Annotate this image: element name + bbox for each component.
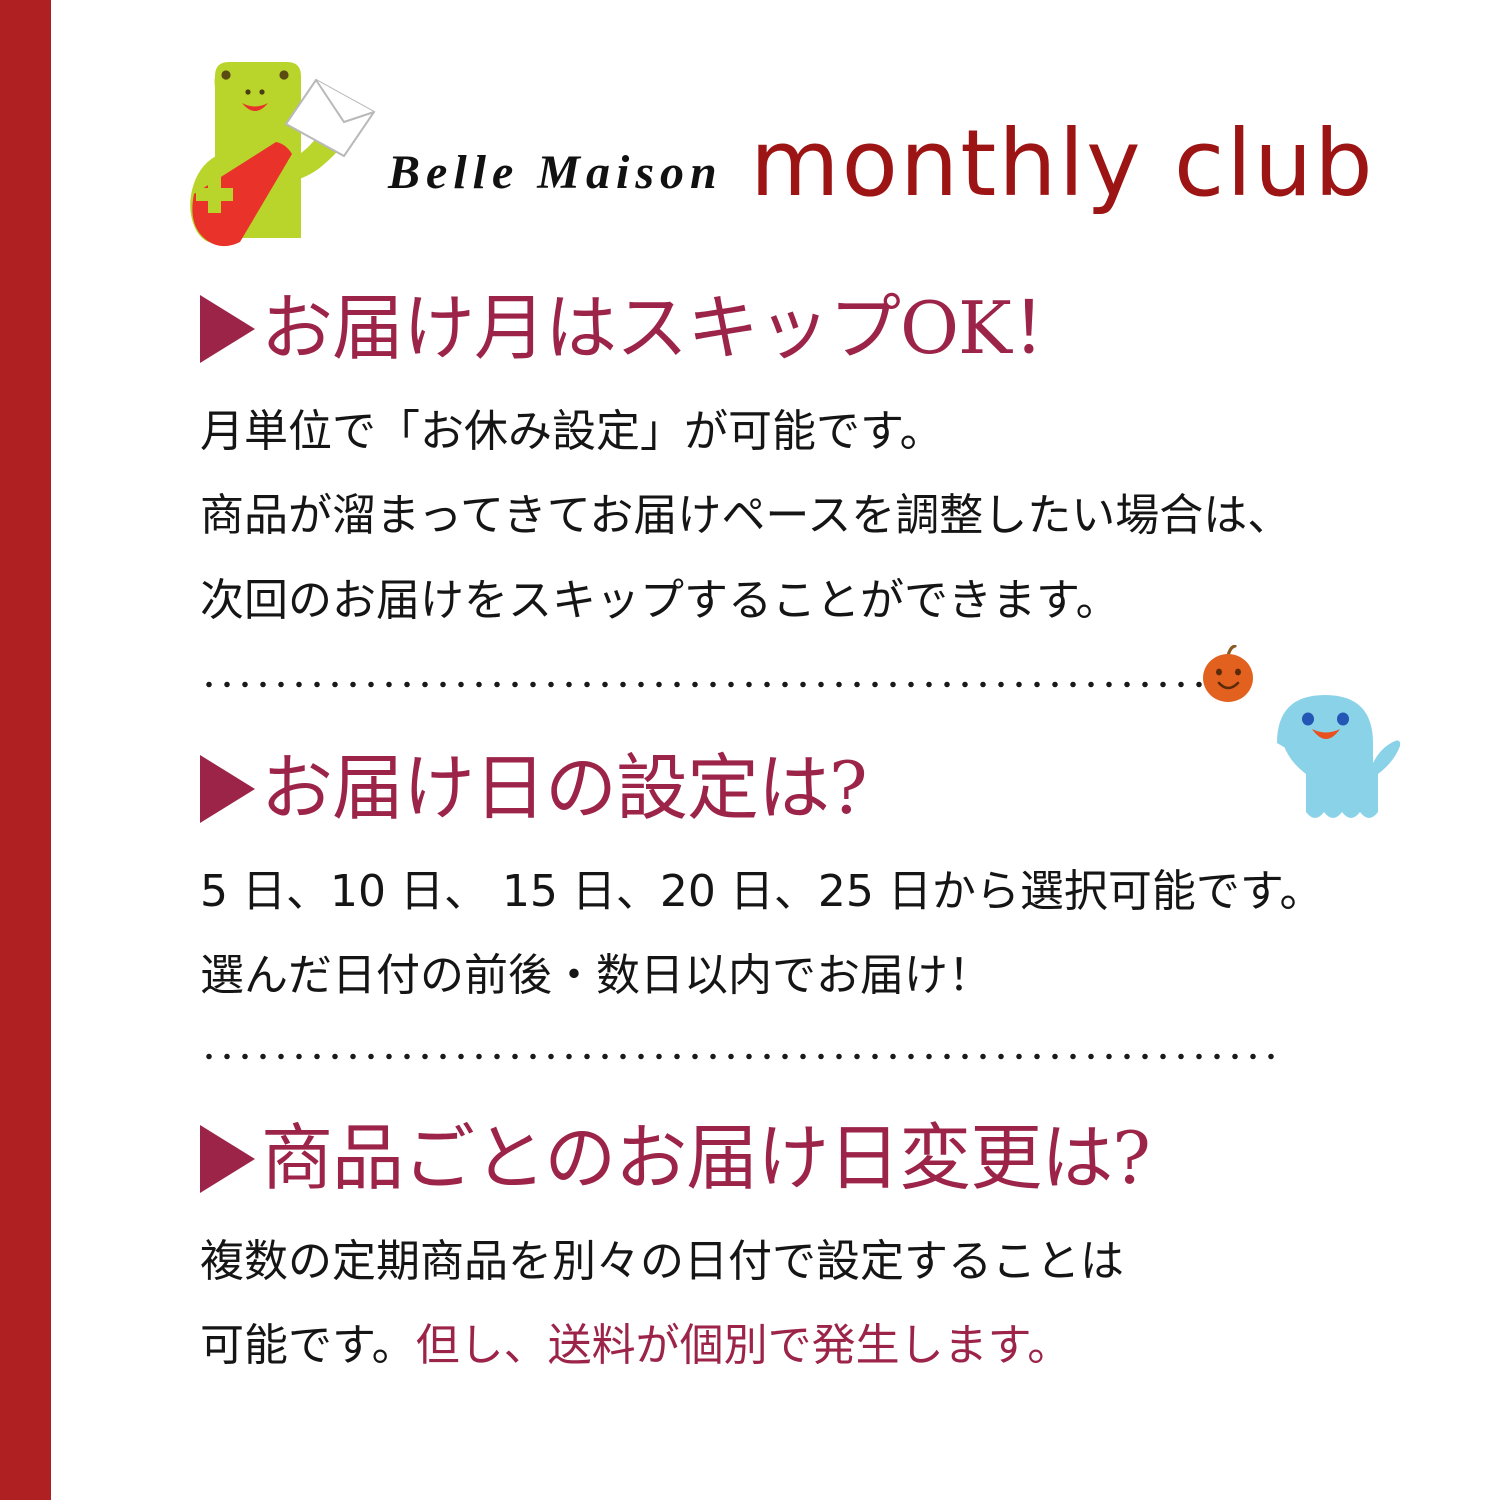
section-heading-label: 商品ごとのお届け日変更は? <box>261 1120 1150 1198</box>
triangle-right-icon <box>200 755 255 823</box>
body-line: 複数の定期商品を別々の日付で設定することは <box>200 1220 1490 1304</box>
section-heading: お届け日の設定は? <box>200 750 1490 828</box>
body-line: 選んだ日付の前後・数日以内でお届け！ <box>200 934 1490 1018</box>
section-per-item-change: 商品ごとのお届け日変更は? 複数の定期商品を別々の日付で設定することは 可能です… <box>200 1120 1490 1389</box>
body-line: 商品が溜まってきてお届けペースを調整したい場合は、 <box>200 474 1490 558</box>
section-delivery-date: お届け日の設定は? 5 日、10 日、 15 日、20 日、25 日から選択可能… <box>200 750 1490 1019</box>
section-heading-label: お届け月はスキップOK！ <box>261 290 1082 368</box>
pumpkin-icon <box>1203 646 1253 702</box>
left-red-accent-bar <box>0 0 51 1500</box>
dotted-divider <box>200 680 1205 689</box>
section-heading: お届け月はスキップOK！ <box>200 290 1490 368</box>
promo-page: Belle Maison monthly club お届け月はスキップOK！ 月… <box>0 0 1500 1500</box>
body-line: 月単位で「お休み設定」が可能です。 <box>200 390 1490 474</box>
triangle-right-icon <box>200 295 255 363</box>
page-header: Belle Maison monthly club <box>160 40 1420 260</box>
brand-name: Belle Maison <box>388 145 723 200</box>
body-line-plain: 可能です。 <box>200 1320 416 1371</box>
section-heading-label: お届け日の設定は? <box>261 750 867 828</box>
dotted-divider <box>200 1052 1285 1061</box>
body-line-accent: 但し、送料が個別で発生します。 <box>416 1320 1072 1371</box>
frog-mailman-mascot-icon <box>170 48 385 263</box>
club-name: monthly club <box>750 118 1375 210</box>
body-line: 次回のお届けをスキップすることができます。 <box>200 559 1490 643</box>
body-line-mixed: 可能です。但し、送料が個別で発生します。 <box>200 1304 1490 1388</box>
section-skip-month: お届け月はスキップOK！ 月単位で「お休み設定」が可能です。 商品が溜まってきて… <box>200 290 1490 643</box>
section-heading: 商品ごとのお届け日変更は? <box>200 1120 1490 1198</box>
body-line: 5 日、10 日、 15 日、20 日、25 日から選択可能です。 <box>200 850 1490 934</box>
triangle-right-icon <box>200 1125 255 1193</box>
